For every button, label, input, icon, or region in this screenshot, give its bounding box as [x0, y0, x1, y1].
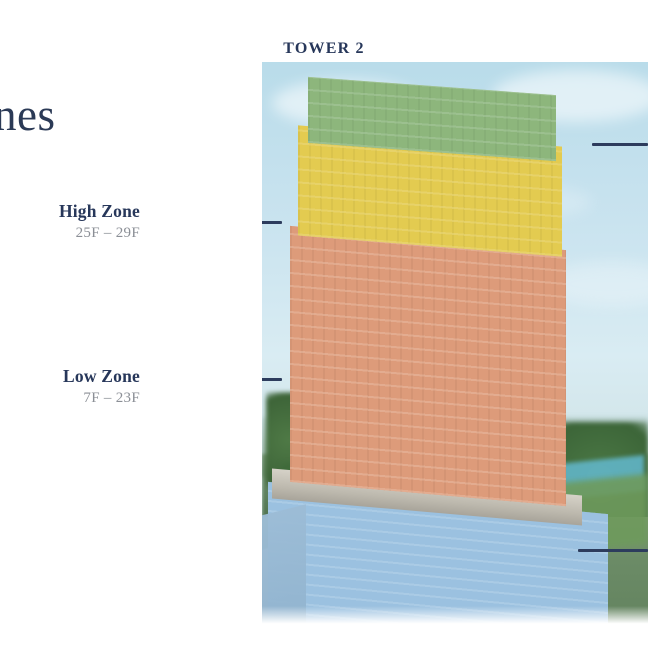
photo-bottom-fade: [262, 606, 648, 628]
low-zone-title: Low Zone: [0, 366, 140, 386]
high-zone-label-group: High Zone 25F – 29F: [0, 201, 140, 243]
section-heading-partial: nes: [0, 92, 56, 138]
photo-footer-spacer: [262, 628, 648, 648]
low-zone-label-group: Low Zone 7F – 23F: [0, 366, 140, 408]
low-zone-range: 7F – 23F: [0, 388, 140, 408]
low-zone-tint: [290, 226, 566, 506]
page-title: TOWER 2: [0, 40, 648, 58]
left-label-panel: nes High Zone 25F – 29F Low Zone 7F – 23…: [0, 0, 262, 648]
high-zone-range: 25F – 29F: [0, 223, 140, 243]
low-zone-tint-block: [290, 226, 566, 506]
right-top-leader-line: [592, 143, 648, 146]
right-bottom-leader-line: [578, 549, 648, 552]
building-rendering-image: [262, 62, 648, 628]
high-zone-title: High Zone: [0, 201, 140, 221]
